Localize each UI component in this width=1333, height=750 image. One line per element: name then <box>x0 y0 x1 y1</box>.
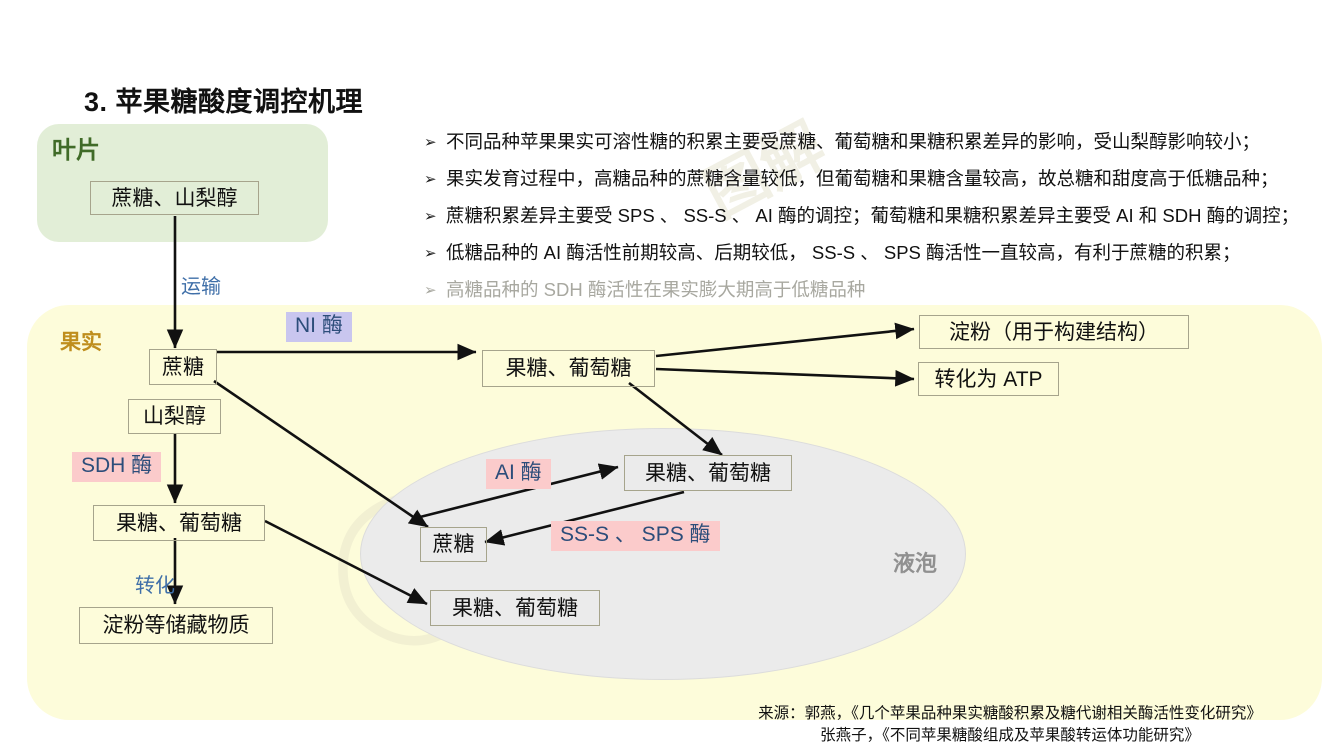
list-item: ➢ 低糖品种的 AI 酶活性前期较高、后期较低， SS-S 、 SPS 酶活性一… <box>424 238 1329 268</box>
list-item: ➢ 蔗糖积累差异主要受 SPS 、 SS-S 、 AI 酶的调控；葡萄糖和果糖积… <box>424 201 1329 231</box>
box-starch-structure: 淀粉（用于构建结构） <box>919 315 1189 349</box>
box-cytosol-hexose: 果糖、葡萄糖 <box>482 350 655 387</box>
enzyme-tag-ai: AI 酶 <box>486 459 551 489</box>
box-vacuole-hexose-bottom: 果糖、葡萄糖 <box>430 590 600 626</box>
label-convert: 转化 <box>135 569 175 598</box>
enzyme-tag-ni: NI 酶 <box>286 312 352 342</box>
list-item: ➢ 不同品种苹果果实可溶性糖的积累主要受蔗糖、葡萄糖和果糖积累差异的影响，受山梨… <box>424 127 1329 157</box>
bullet-arrow-icon: ➢ <box>424 164 446 194</box>
bullet-arrow-icon: ➢ <box>424 238 446 268</box>
enzyme-tag-sdh: SDH 酶 <box>72 452 161 482</box>
list-item: ➢ 果实发育过程中，高糖品种的蔗糖含量较低，但葡萄糖和果糖含量较高，故总糖和甜度… <box>424 164 1329 194</box>
box-fruit-sorbitol: 山梨醇 <box>128 399 221 434</box>
enzyme-tag-ss-sps: SS-S 、 SPS 酶 <box>551 521 720 551</box>
list-item-text: 高糖品种的 SDH 酶活性在果实膨大期高于低糖品种 <box>446 275 865 305</box>
slide-canvas: 图解 图解 3. 苹果糖酸度调控机理 叶片 蔗糖、山梨醇 ◯ 果实 液泡 <box>0 0 1333 750</box>
source-line-2: 张燕子，《不同苹果糖酸组成及苹果酸转运体功能研究》 <box>700 725 1320 747</box>
bullet-arrow-icon: ➢ <box>424 201 446 231</box>
label-transport: 运输 <box>181 270 221 299</box>
list-item-text: 低糖品种的 AI 酶活性前期较高、后期较低， SS-S 、 SPS 酶活性一直较… <box>446 238 1241 268</box>
source-citation: 来源：郭燕，《几个苹果品种果实糖酸积累及糖代谢相关酶活性变化研究》 张燕子，《不… <box>700 703 1320 748</box>
list-item: ➢ 高糖品种的 SDH 酶活性在果实膨大期高于低糖品种 <box>424 275 1329 305</box>
box-fruit-hexose: 果糖、葡萄糖 <box>93 505 265 541</box>
list-item-text: 不同品种苹果果实可溶性糖的积累主要受蔗糖、葡萄糖和果糖积累差异的影响，受山梨醇影… <box>446 127 1260 157</box>
source-line-1: 来源：郭燕，《几个苹果品种果实糖酸积累及糖代谢相关酶活性变化研究》 <box>700 703 1320 725</box>
list-item-text: 蔗糖积累差异主要受 SPS 、 SS-S 、 AI 酶的调控；葡萄糖和果糖积累差… <box>446 201 1299 231</box>
box-fruit-sucrose: 蔗糖 <box>149 349 217 385</box>
bullet-arrow-icon: ➢ <box>424 275 446 305</box>
box-vacuole-hexose-top: 果糖、葡萄糖 <box>624 455 792 491</box>
list-item-text: 果实发育过程中，高糖品种的蔗糖含量较低，但葡萄糖和果糖含量较高，故总糖和甜度高于… <box>446 164 1279 194</box>
box-convert-atp: 转化为 ATP <box>918 362 1059 396</box>
bullet-arrow-icon: ➢ <box>424 127 446 157</box>
box-vacuole-sucrose: 蔗糖 <box>420 527 487 562</box>
box-fruit-starch-storage: 淀粉等储藏物质 <box>79 607 273 644</box>
bullet-list: ➢ 不同品种苹果果实可溶性糖的积累主要受蔗糖、葡萄糖和果糖积累差异的影响，受山梨… <box>424 127 1329 312</box>
